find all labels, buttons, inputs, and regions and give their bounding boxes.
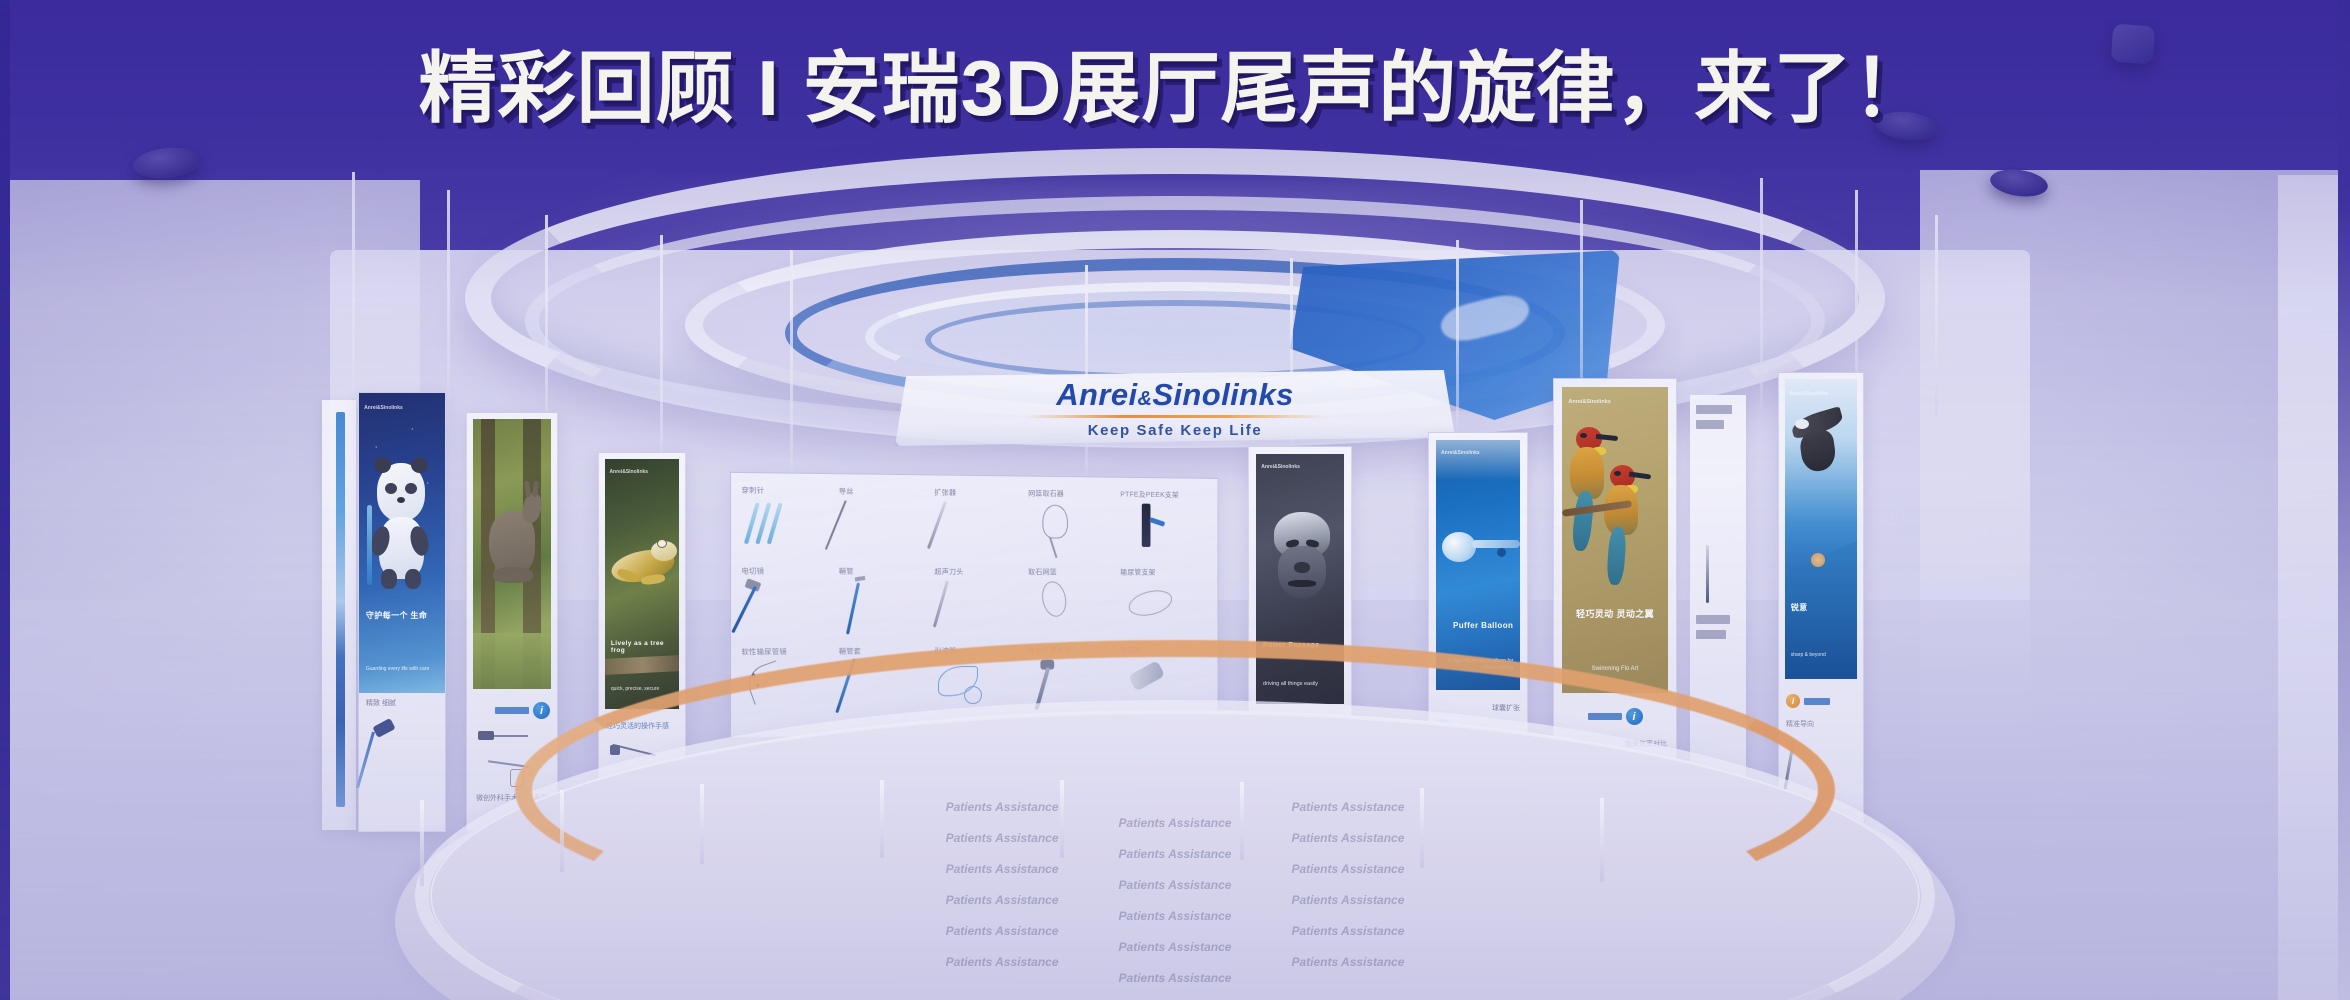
product-label: 扩张器: [934, 487, 1025, 498]
barrier-post: [1060, 780, 1064, 858]
brand-name-part1: Anrei: [1056, 377, 1137, 412]
ureteral-stent-icon: [1126, 586, 1175, 620]
bird-eye-icon: [1614, 471, 1621, 476]
hanging-rod: [447, 190, 450, 440]
floor-text-column: Patients Assistance Patients Assistance …: [1119, 740, 1232, 1000]
ultrasonic-tip-icon: [933, 581, 949, 628]
floor-text-line: Patients Assistance: [1119, 878, 1232, 892]
stent-branch-icon: [1149, 517, 1165, 527]
floor-text-line: Patients Assistance: [1119, 909, 1232, 923]
product-label: 输尿管支架: [1120, 568, 1208, 578]
bird-tail-icon: [1571, 490, 1595, 552]
sub-brand-logo: i: [474, 702, 550, 719]
border-left: [0, 0, 10, 1000]
panda-ear-icon: [374, 457, 391, 473]
barrier-post: [420, 800, 424, 886]
basket-shaft-icon: [1049, 537, 1057, 558]
kangaroo-leg-icon: [493, 567, 533, 583]
floor-text-line: Patients Assistance: [1291, 955, 1404, 969]
product-label: 导丝: [839, 486, 932, 497]
product-label: 电切镜: [741, 566, 835, 576]
stent-dark-icon: [1142, 504, 1151, 547]
floor-text-line: Patients Assistance: [1119, 971, 1232, 985]
floor-text-line: Patients Assistance: [1291, 862, 1404, 876]
sub-brand-logo: i: [1786, 694, 1830, 708]
barrier-post: [560, 790, 564, 872]
brand-tagline: Keep Safe Keep Life: [1088, 422, 1263, 439]
poster-image-tree-frog: Anrei&Sinolinks Lively as a tree frog qu…: [605, 459, 679, 709]
product-label: PTFE及PEEK支架: [1120, 490, 1208, 501]
right-wall-strip: [2278, 175, 2338, 1000]
bird-tail-icon: [1606, 526, 1627, 585]
sub-brand-text: [495, 707, 529, 714]
device-handle-icon: [372, 718, 395, 738]
product-label: 软性输尿管镜: [741, 647, 835, 658]
scope-shaft-icon: [731, 586, 757, 633]
panda-eye-icon: [385, 483, 397, 494]
poster-image-bee-eater: Anrei&Sinolinks 轻巧灵动 灵动之翼 Swimming Flo A…: [1562, 387, 1668, 693]
device-illustration: [366, 716, 438, 796]
poster-subtitle: Swimming Flo Art: [1570, 666, 1659, 672]
floor-text-line: Patients Assistance: [946, 955, 1059, 969]
floor-text-line: Patients Assistance: [946, 893, 1059, 907]
text-placeholder-line: [1696, 420, 1724, 429]
floor-text-column: Patients Assistance Patients Assistance …: [1291, 740, 1404, 1000]
marker-dot-icon: [1497, 548, 1506, 557]
water-surface-icon: [1436, 440, 1520, 480]
product-cell[interactable]: 鞘管: [839, 566, 932, 643]
floor-text-line: Patients Assistance: [946, 924, 1059, 938]
panda-ear-icon: [411, 457, 428, 473]
panda-leg-icon: [381, 569, 397, 589]
barrier-post: [1600, 798, 1604, 882]
floor-text-line: Patients Assistance: [1291, 800, 1404, 814]
poster-title: Puffer Balloon: [1443, 621, 1514, 630]
poster-brand-mark: Anrei&Sinolinks: [1261, 464, 1300, 470]
accent-strip-left: [336, 412, 345, 807]
product-cell[interactable]: 穿刺针: [741, 485, 835, 563]
poster-title: Lively as a tree frog: [611, 640, 673, 654]
badger-mouth-icon: [1288, 580, 1316, 587]
product-label: 网篮取石器: [1028, 489, 1117, 500]
panda-eye-icon: [405, 483, 417, 494]
text-placeholder-line: [1696, 630, 1726, 639]
catheter-shaft-icon: [1472, 540, 1520, 548]
floor-text-line: Patients Assistance: [1119, 847, 1232, 861]
poster-image-eagle-ocean: Anrei&Sinolinks 锐意 sharp & beyond: [1785, 379, 1857, 679]
border-right: [2338, 0, 2350, 1000]
brand-name-part2: Sinolinks: [1152, 377, 1293, 412]
text-placeholder-line: [1696, 405, 1732, 414]
sheath-hub-icon: [855, 576, 866, 582]
product-label: 取石网篮: [1028, 567, 1117, 577]
floor-text-line: Patients Assistance: [946, 800, 1059, 814]
product-label: 鞘管: [839, 566, 932, 576]
hanging-rod: [1935, 215, 1938, 415]
poster-image-kangaroo: [473, 419, 551, 689]
panda-nose-icon: [397, 497, 405, 503]
side-column-content: [1696, 405, 1740, 639]
device-shaft-icon: [1706, 545, 1709, 603]
poster-title: 守护每一个 生命: [366, 610, 438, 621]
product-cell[interactable]: 超声刀头: [934, 567, 1025, 643]
product-cell[interactable]: 导丝: [839, 486, 932, 563]
sub-brand-text: [1804, 698, 1830, 705]
panda-leg-icon: [405, 569, 421, 589]
poster-panel-panda[interactable]: Anrei&Sinolinks 守护每一个 生命 Guarding every …: [358, 392, 446, 832]
floor-text-line: Patients Assistance: [1291, 924, 1404, 938]
brand-logo-text: Anrei&Sinolinks: [1056, 377, 1294, 413]
sun-icon: [1811, 553, 1825, 567]
product-cell[interactable]: 网篮取石器: [1028, 489, 1117, 565]
poster-brand-mark: Anrei&Sinolinks: [609, 469, 648, 475]
basket-loop-icon: [1039, 579, 1069, 619]
grass-icon: [473, 633, 551, 689]
balloon-icon: [1442, 532, 1476, 562]
product-cell[interactable]: 扩张器: [934, 487, 1025, 564]
device-tip-icon: [478, 731, 494, 740]
poster-subtitle: quick, precise, secure: [611, 686, 673, 692]
brand-logo-band: Anrei&Sinolinks Keep Safe Keep Life: [895, 370, 1455, 446]
brand-ampersand: &: [1138, 388, 1153, 410]
floor-text-line: Patients Assistance: [1119, 940, 1232, 954]
hanging-rod: [1760, 178, 1763, 408]
badger-nose-icon: [1294, 562, 1310, 573]
branch-icon: [605, 655, 679, 675]
product-cell[interactable]: 取石网篮: [1028, 567, 1117, 643]
poster-footer-panda: 精致 细腻: [359, 693, 445, 802]
eagle-body-icon: [1798, 429, 1837, 473]
brand-logo-underline: [1025, 415, 1325, 418]
poster-subtitle: Guarding every life with care: [366, 666, 438, 672]
info-i-icon: i: [1786, 694, 1800, 708]
floor-text-column: Patients Assistance Patients Assistance …: [946, 740, 1059, 1000]
floor-text-line: Patients Assistance: [946, 831, 1059, 845]
product-cell[interactable]: 电切镜: [741, 566, 835, 644]
device-shaft-icon: [494, 735, 528, 737]
showroom-banner: Anrei&Sinolinks Keep Safe Keep Life Anre…: [0, 0, 2350, 1000]
hanging-rod: [790, 250, 793, 500]
eagle-head-icon: [1795, 419, 1809, 429]
page-title: 精彩回顾 I 安瑞3D展厅尾声的旋律，来了！: [0, 26, 2350, 138]
floor-text-group: Patients Assistance Patients Assistance …: [625, 740, 1725, 1000]
product-cell[interactable]: PTFE及PEEK支架: [1120, 490, 1208, 565]
poster-subtitle: sharp & beyond: [1791, 652, 1852, 658]
bird-eye-icon: [1580, 433, 1587, 438]
sheath-shaft-icon: [846, 582, 860, 634]
barrier-post: [700, 784, 704, 864]
poster-image-panda: Anrei&Sinolinks 守护每一个 生命 Guarding every …: [359, 393, 445, 693]
basket-loop-icon: [1042, 505, 1068, 539]
hanging-rod: [1456, 240, 1459, 455]
floor-text-line: Patients Assistance: [1291, 831, 1404, 845]
frog-eye-icon: [657, 539, 667, 548]
product-label: 超声刀头: [934, 567, 1025, 577]
device-shaft-icon: [356, 731, 375, 788]
info-i-icon: i: [533, 702, 550, 719]
poster-brand-mark: Anrei&Sinolinks: [1568, 399, 1610, 405]
poster-caption: 精致 细腻: [366, 699, 438, 710]
poster-brand-mark: Anrei&Sinolinks: [1441, 450, 1480, 456]
barrier-post: [880, 780, 884, 858]
product-cell[interactable]: 输尿管支架: [1120, 568, 1208, 643]
text-placeholder-line: [1696, 615, 1730, 624]
poster-brand-mark: Anrei&Sinolinks: [364, 405, 403, 411]
poster-brand-mark: Anrei&Sinolinks: [1789, 391, 1828, 397]
floor-text-line: Patients Assistance: [1291, 893, 1404, 907]
barrier-post: [1420, 788, 1424, 868]
hanging-rod: [1290, 258, 1293, 473]
device-illustration: [1696, 545, 1740, 615]
product-label: 穿刺针: [741, 485, 835, 496]
floor-text-line: Patients Assistance: [1119, 816, 1232, 830]
barrier-post: [1240, 782, 1244, 860]
poster-title: 锐意: [1791, 602, 1852, 613]
poster-caption: 精准导向: [1786, 719, 1856, 729]
floor-text-line: Patients Assistance: [946, 862, 1059, 876]
poster-title: 轻巧灵动 灵动之翼: [1570, 607, 1659, 620]
panda-instrument-icon: [367, 505, 372, 585]
